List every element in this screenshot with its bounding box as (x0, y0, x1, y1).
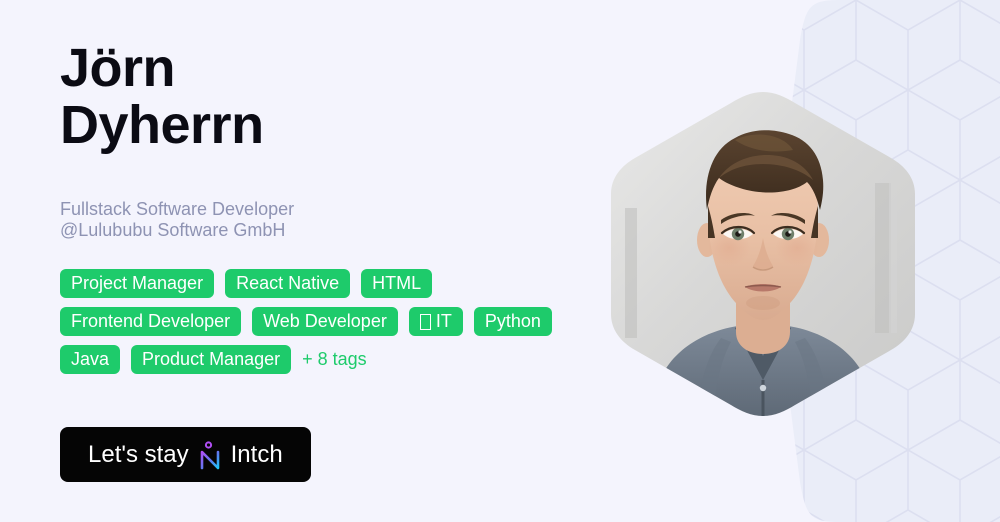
tag-html[interactable]: HTML (361, 269, 432, 298)
tag-python[interactable]: Python (474, 307, 552, 336)
cta-text-before: Let's stay (88, 441, 189, 469)
tag-label: Python (485, 307, 541, 336)
tag-label: Product Manager (142, 345, 280, 374)
intch-n-logo-icon (197, 441, 223, 471)
tag-label: Project Manager (71, 269, 203, 298)
profile-card: Jörn Dyherrn Fullstack Software Develope… (0, 0, 1000, 522)
tag-label: HTML (372, 269, 421, 298)
tag-react-native[interactable]: React Native (225, 269, 350, 298)
tag-web-developer[interactable]: Web Developer (252, 307, 398, 336)
lets-stay-intch-button[interactable]: Let's stay Intch (60, 427, 311, 482)
profile-headline: Fullstack Software Developer @Lulububu S… (60, 199, 490, 241)
tag-java[interactable]: Java (60, 345, 120, 374)
tag-project-manager[interactable]: Project Manager (60, 269, 214, 298)
page-title: Jörn Dyherrn (60, 40, 264, 154)
profile-content: Jörn Dyherrn Fullstack Software Develope… (60, 0, 660, 522)
tag-label: Frontend Developer (71, 307, 230, 336)
tag-frontend-developer[interactable]: Frontend Developer (60, 307, 241, 336)
tag-label: Java (71, 345, 109, 374)
tag-label: Web Developer (263, 307, 387, 336)
tag-label: IT (436, 307, 452, 336)
missing-glyph-icon (420, 314, 431, 330)
tag-it[interactable]: IT (409, 307, 463, 336)
tag-list: Project Manager React Native HTML Fronte… (60, 269, 580, 374)
tag-product-manager[interactable]: Product Manager (131, 345, 291, 374)
more-tags-link[interactable]: + 8 tags (302, 349, 367, 370)
tag-label: React Native (236, 269, 339, 298)
cta-text-after: Intch (231, 441, 283, 469)
